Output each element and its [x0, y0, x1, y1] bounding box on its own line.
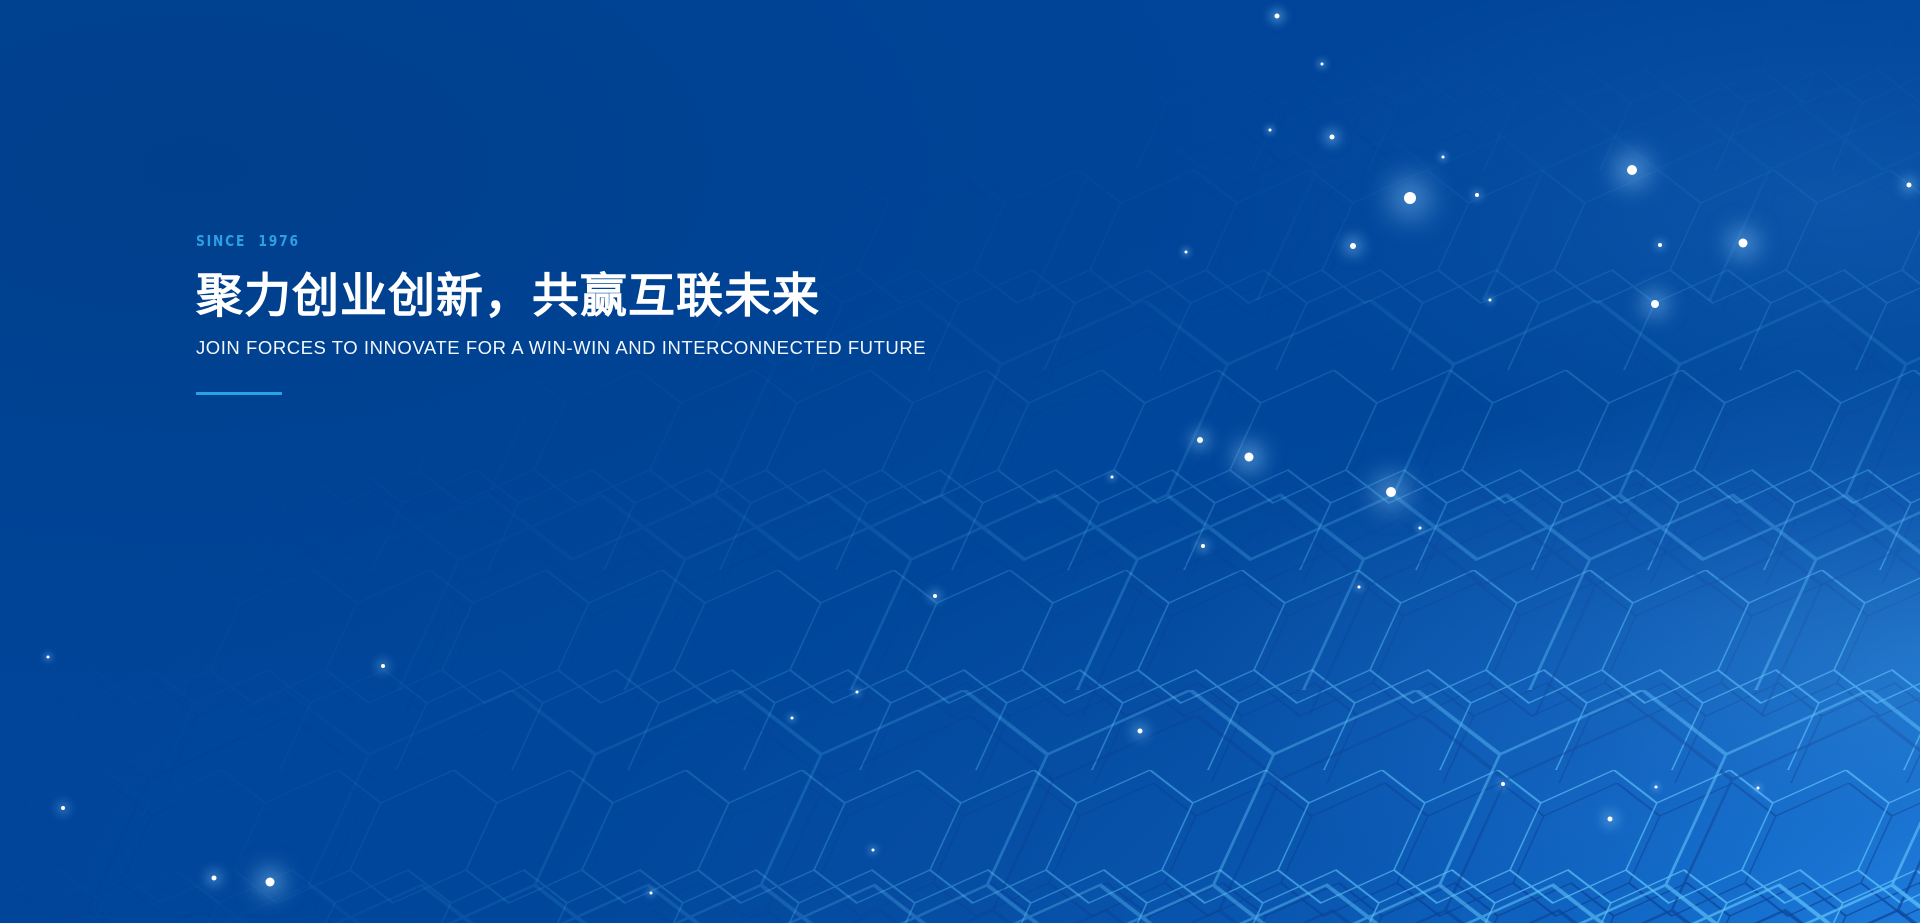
page-subtitle: JOIN FORCES TO INNOVATE FOR A WIN-WIN AN…	[196, 337, 1176, 359]
hero-banner: SINCE 1976 聚力创业创新，共赢互联未来 JOIN FORCES TO …	[0, 0, 1920, 923]
hero-copy-block: SINCE 1976 聚力创业创新，共赢互联未来 JOIN FORCES TO …	[196, 232, 1176, 395]
eyebrow-since-label: SINCE 1976	[196, 232, 1000, 250]
top-left-vignette	[0, 0, 1920, 923]
accent-divider	[196, 392, 282, 395]
page-title: 聚力创业创新，共赢互联未来	[196, 272, 1176, 323]
